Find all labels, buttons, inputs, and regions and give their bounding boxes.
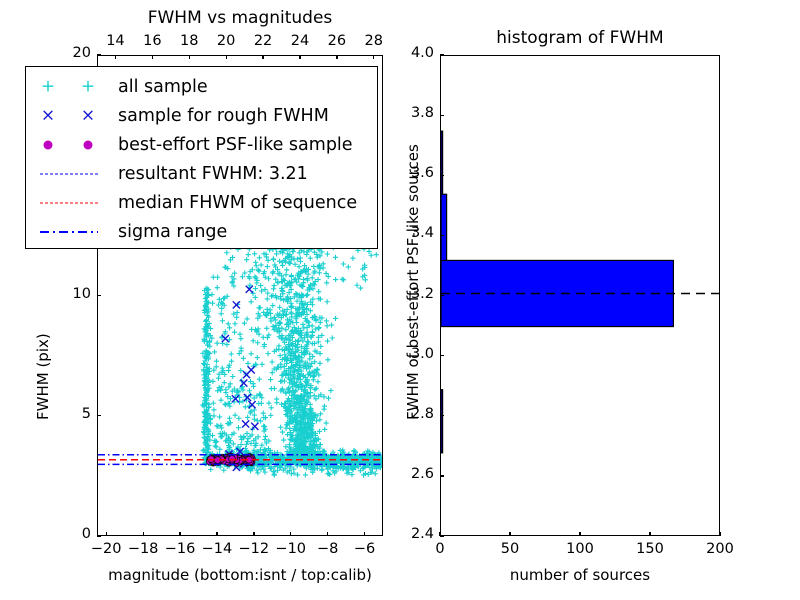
legend-entry: median FHWM of sequence (26, 188, 377, 217)
scatter-top-xticklabel: 26 (323, 33, 351, 49)
scatter-ytick (97, 295, 101, 296)
scatter-xtick-bottom (216, 532, 217, 536)
scatter-xtick-top (373, 55, 374, 59)
hist-ytick (440, 175, 444, 176)
scatter-xticklabel: −8 (311, 541, 345, 557)
scatter-yticklabel: 0 (63, 526, 91, 542)
circle-icon (84, 140, 93, 149)
hist-xtick (579, 532, 580, 536)
legend-label: median FHWM of sequence (118, 193, 357, 213)
scatter-xtick-top (299, 55, 300, 59)
scatter-yticklabel: 20 (63, 45, 91, 61)
scatter-top-xticklabel: 22 (249, 33, 277, 49)
plus-icon: + (81, 78, 95, 95)
hist-xticklabel: 0 (420, 541, 460, 557)
scatter-xtick-bottom (290, 532, 291, 536)
histogram-bar (441, 390, 443, 453)
scatter-top-xticklabel: 20 (212, 33, 240, 49)
legend-entry: sigma range (26, 217, 377, 246)
legend-symbol-circle-icon (26, 130, 118, 159)
legend-label: all sample (118, 77, 208, 97)
hist-ytick (440, 415, 444, 416)
histogram-xlabel: number of sources (400, 566, 760, 584)
hist-xticklabel: 50 (490, 541, 530, 557)
dashdot-line-icon (40, 231, 98, 233)
scatter-xticklabel: −20 (89, 541, 123, 557)
hist-xtick (649, 532, 650, 536)
hist-ytick (440, 54, 444, 55)
legend-symbol-dashed-line-icon (26, 188, 118, 217)
figure-canvas: −20−18−16−14−12−10−8−6141618202224262805… (0, 0, 800, 600)
hist-yticklabel: 2.6 (396, 466, 434, 482)
histogram-axes (440, 55, 720, 536)
legend-entry: ××sample for rough FWHM (26, 101, 377, 130)
legend-label: sigma range (118, 222, 227, 242)
scatter-ytick (97, 54, 101, 55)
scatter-xtick-top (336, 55, 337, 59)
scatter-ytick (97, 535, 101, 536)
scatter-yticklabel: 5 (63, 406, 91, 422)
legend-symbol-dashdot-line-icon (26, 217, 118, 246)
scatter-xtick-bottom (179, 532, 180, 536)
scatter-xtick-bottom (327, 532, 328, 536)
scatter-xtick-top (189, 55, 190, 59)
hist-ytick (440, 355, 444, 356)
legend-entry: best-effort PSF-like sample (26, 130, 377, 159)
legend-symbol-plus-icon: ++ (26, 72, 118, 101)
legend-label: resultant FWHM: 3.21 (118, 164, 308, 184)
hist-ytick (440, 235, 444, 236)
hist-yticklabel: 2.4 (396, 526, 434, 542)
scatter-top-xticklabel: 16 (138, 33, 166, 49)
scatter-ytick (97, 415, 101, 416)
scatter-top-xticklabel: 14 (101, 33, 129, 49)
histogram-bar-canvas (441, 56, 719, 535)
histogram-data-layer (441, 56, 719, 535)
scatter-xtick-top (226, 55, 227, 59)
scatter-xtick-top (152, 55, 153, 59)
plot-legend: ++all sample××sample for rough FWHMbest-… (25, 66, 378, 249)
hist-ytick (440, 295, 444, 296)
legend-symbol-dashed-line-icon (26, 159, 118, 188)
hist-ytick (440, 115, 444, 116)
scatter-yticklabel: 10 (63, 286, 91, 302)
legend-label: sample for rough FWHM (118, 106, 329, 126)
scatter-top-xticklabel: 28 (360, 33, 388, 49)
scatter-xlabel: magnitude (bottom:isnt / top:calib) (57, 566, 423, 584)
hist-xtick (719, 532, 720, 536)
cross-icon: × (81, 107, 95, 124)
scatter-title: FWHM vs magnitudes (77, 8, 403, 28)
histogram-title: histogram of FWHM (420, 28, 740, 48)
hist-yticklabel: 3.8 (396, 105, 434, 121)
scatter-xtick-top (262, 55, 263, 59)
scatter-xticklabel: −16 (163, 541, 197, 557)
scatter-xtick-top (115, 55, 116, 59)
scatter-xtick-bottom (106, 532, 107, 536)
legend-entry: resultant FWHM: 3.21 (26, 159, 377, 188)
cross-icon: × (41, 107, 55, 124)
histogram-bar (441, 194, 447, 260)
dashed-line-icon (40, 202, 98, 203)
hist-xtick (509, 532, 510, 536)
plus-icon: + (41, 78, 55, 95)
hist-xticklabel: 100 (560, 541, 600, 557)
scatter-ylabel: FWHM (pix) (34, 333, 52, 420)
legend-symbol-cross-icon: ×× (26, 101, 118, 130)
scatter-xtick-bottom (143, 532, 144, 536)
scatter-top-xticklabel: 24 (286, 33, 314, 49)
scatter-xtick-bottom (253, 532, 254, 536)
legend-entry: ++all sample (26, 72, 377, 101)
hist-xticklabel: 200 (700, 541, 740, 557)
scatter-xticklabel: −14 (200, 541, 234, 557)
dashed-line-icon (40, 173, 98, 174)
scatter-top-xticklabel: 18 (175, 33, 203, 49)
hist-xticklabel: 150 (630, 541, 670, 557)
hist-ytick (440, 535, 444, 536)
histogram-bar (441, 131, 443, 194)
circle-icon (44, 140, 53, 149)
hist-ytick (440, 475, 444, 476)
legend-label: best-effort PSF-like sample (118, 135, 353, 155)
scatter-xticklabel: −10 (274, 541, 308, 557)
scatter-xticklabel: −18 (126, 541, 160, 557)
scatter-xticklabel: −6 (348, 541, 382, 557)
scatter-xtick-bottom (364, 532, 365, 536)
scatter-xticklabel: −12 (237, 541, 271, 557)
histogram-ylabel: FWHM of best-effort PSF-like sources (404, 144, 422, 420)
